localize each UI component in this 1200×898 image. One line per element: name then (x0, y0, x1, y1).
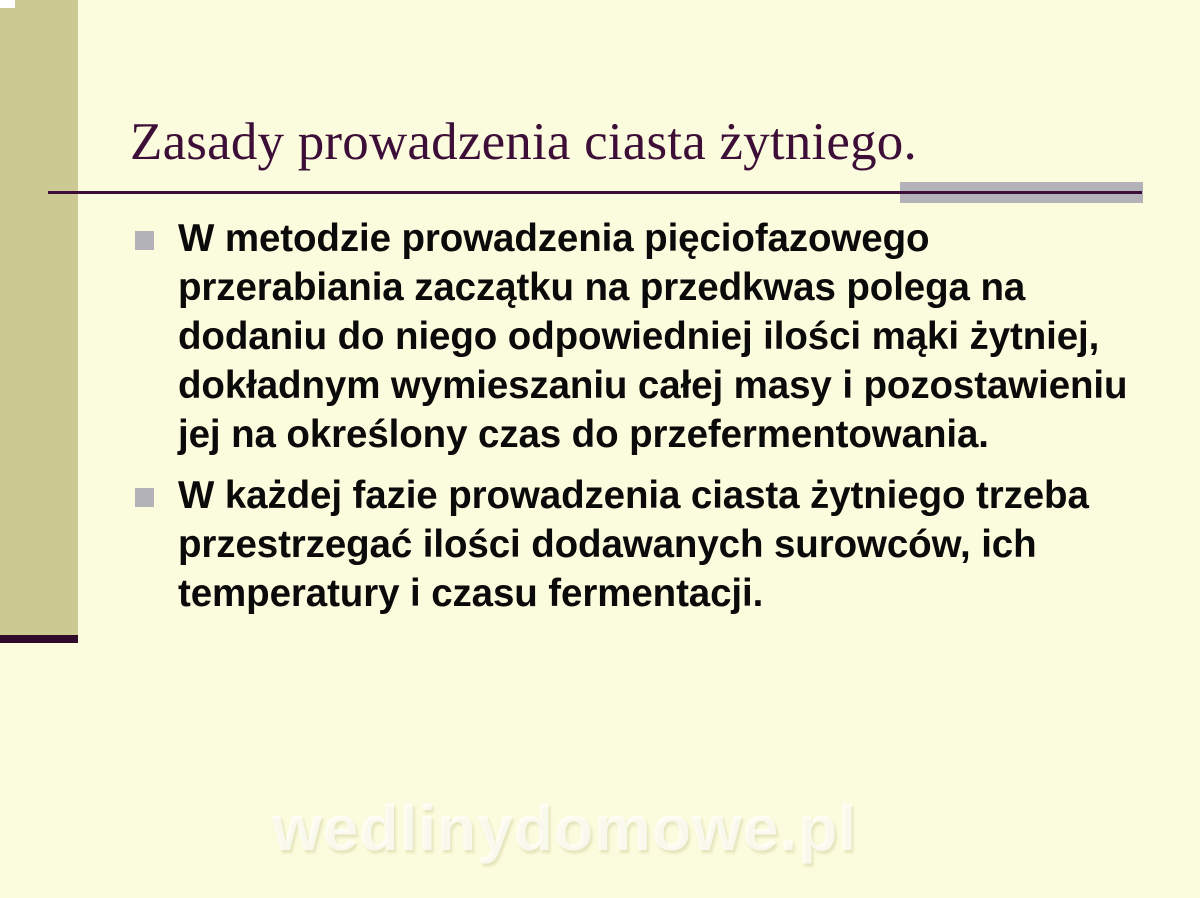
decorative-side-band-foot (0, 635, 78, 643)
presentation-slide: Zasady prowadzenia ciasta żytniego. W me… (0, 0, 1200, 898)
bullet-text: W metodzie prowadzenia pięciofazowego pr… (178, 214, 1142, 459)
slide-bullet-list: W metodzie prowadzenia pięciofazowego pr… (132, 214, 1142, 630)
slide-title: Zasady prowadzenia ciasta żytniego. (130, 114, 1150, 171)
bullet-text: W każdej fazie prowadzenia ciasta żytnie… (178, 471, 1142, 618)
header-divider-rule (48, 191, 1142, 194)
list-item: W metodzie prowadzenia pięciofazowego pr… (132, 214, 1142, 459)
side-band-corner-notch (0, 0, 15, 8)
decorative-side-band (0, 0, 78, 636)
square-bullet-icon (135, 231, 154, 250)
list-item: W każdej fazie prowadzenia ciasta żytnie… (132, 471, 1142, 618)
square-bullet-icon (135, 488, 154, 507)
watermark: wedlinydomowe.pl (272, 791, 857, 865)
